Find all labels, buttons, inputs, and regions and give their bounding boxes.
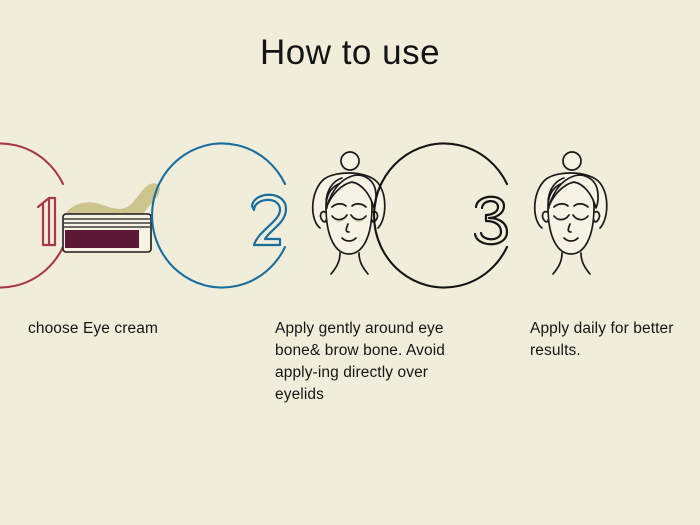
eye-cream-swirl-icon	[65, 184, 159, 215]
step-3-number-icon	[475, 197, 507, 245]
step-item-1: choose Eye cream	[6, 128, 239, 488]
step-item-3: Apply daily for better results.	[450, 128, 683, 488]
eye-cream-jar-icon	[63, 214, 151, 252]
step-1-caption: choose Eye cream	[28, 318, 228, 340]
steps-container: choose Eye cream	[0, 128, 700, 488]
page-title: How to use	[0, 35, 700, 70]
step-2-number-icon	[252, 195, 286, 245]
step-item-2: Apply gently around eye bone& brow bone.…	[228, 128, 461, 488]
face-icon	[535, 152, 607, 274]
step-2-caption: Apply gently around eye bone& brow bone.…	[275, 318, 457, 406]
step-2-badge	[228, 128, 461, 303]
step-1-ring-icon	[0, 144, 63, 288]
how-to-use-infographic: How to use	[0, 0, 700, 525]
step-1-illustration	[6, 128, 239, 303]
step-2-illustration	[228, 128, 461, 303]
step-3-illustration	[450, 128, 683, 303]
step-3-caption: Apply daily for better results.	[530, 318, 690, 362]
step-3-badge	[450, 128, 683, 303]
step-1-badge	[6, 128, 239, 303]
step-1-number-icon	[38, 198, 55, 245]
